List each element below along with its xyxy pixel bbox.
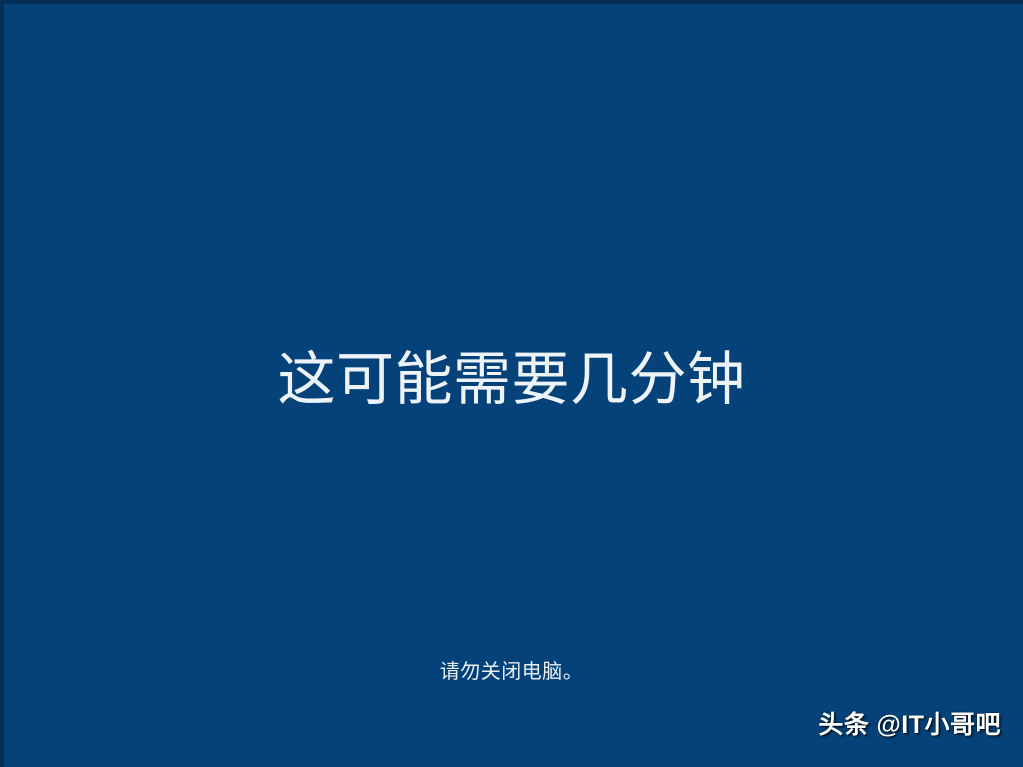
watermark-brand-label: 头条 (818, 711, 869, 739)
status-instruction-text: 请勿关闭电脑。 (0, 660, 1023, 684)
watermark: 头条@IT小哥吧 (818, 705, 1001, 741)
update-status-block: 这可能需要几分钟 请勿关闭电脑。 (0, 0, 1023, 767)
watermark-handle-label: @IT小哥吧 (876, 711, 1001, 739)
page-title: 这可能需要几分钟 (0, 349, 1023, 412)
windows-update-screen: 这可能需要几分钟 请勿关闭电脑。 头条@IT小哥吧 (0, 0, 1023, 767)
